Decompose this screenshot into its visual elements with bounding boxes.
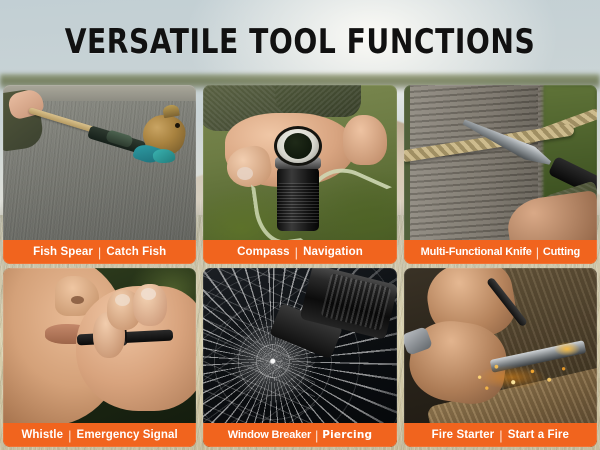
- tool-name: Window Breaker: [228, 429, 311, 441]
- tool-name: Multi-Functional Knife: [421, 246, 532, 258]
- tool-knurling: [277, 183, 319, 223]
- caption-bar: Multi-Functional Knife | Cutting: [404, 240, 597, 264]
- page-title: VERSATILE TOOL FUNCTIONS: [24, 22, 576, 62]
- fish-eye: [175, 123, 180, 128]
- fingernail-1: [115, 294, 130, 306]
- tool-use: Navigation: [303, 246, 363, 258]
- tool-name: Fire Starter: [432, 429, 495, 441]
- caption-separator: |: [295, 246, 298, 259]
- window-breaker-photo: [203, 268, 396, 447]
- fish-dorsal-fin: [162, 104, 180, 119]
- caption-separator: |: [536, 246, 539, 259]
- tool-use: Emergency Signal: [77, 429, 178, 441]
- fingers-shape: [343, 115, 387, 165]
- caption-bar: Window Breaker | Piercing: [203, 423, 396, 447]
- tool-name: Fish Spear: [33, 246, 93, 258]
- whistle-photo: [3, 268, 196, 447]
- fingernail-2: [141, 288, 156, 300]
- tool-use: Start a Fire: [508, 429, 569, 441]
- nostril-shape: [71, 296, 84, 304]
- sparks: [458, 352, 578, 394]
- tool-use: Catch Fish: [106, 246, 166, 258]
- fire-starter-photo: [404, 268, 597, 447]
- tool-name: Compass: [237, 246, 289, 258]
- caption-separator: |: [315, 429, 318, 442]
- feature-grid: Fish Spear | Catch Fish: [3, 85, 597, 447]
- caption-separator: |: [68, 429, 71, 442]
- caption-bar: Compass | Navigation: [203, 240, 396, 264]
- caption-bar: Whistle | Emergency Signal: [3, 423, 196, 447]
- feature-tile-window-breaker[interactable]: Window Breaker | Piercing: [203, 268, 396, 447]
- feature-tile-compass[interactable]: Compass | Navigation: [203, 85, 396, 264]
- caption-bar: Fish Spear | Catch Fish: [3, 240, 196, 264]
- caption-bar: Fire Starter | Start a Fire: [404, 423, 597, 447]
- caption-separator: |: [98, 246, 101, 259]
- feature-tile-whistle[interactable]: Whistle | Emergency Signal: [3, 268, 196, 447]
- feature-tile-fire-starter[interactable]: Fire Starter | Start a Fire: [404, 268, 597, 447]
- caption-separator: |: [499, 429, 502, 442]
- promo-banner: VERSATILE TOOL FUNCTIONS Fish Spear |: [0, 0, 600, 450]
- feature-tile-knife[interactable]: Multi-Functional Knife | Cutting: [404, 85, 597, 264]
- tool-use: Piercing: [322, 429, 372, 441]
- tool-use: Cutting: [543, 246, 580, 258]
- feature-tile-fish-spear[interactable]: Fish Spear | Catch Fish: [3, 85, 196, 264]
- knife-photo: [404, 85, 597, 264]
- tool-name: Whistle: [21, 429, 63, 441]
- fish-spear-photo: [3, 85, 196, 264]
- compass-photo: [203, 85, 396, 264]
